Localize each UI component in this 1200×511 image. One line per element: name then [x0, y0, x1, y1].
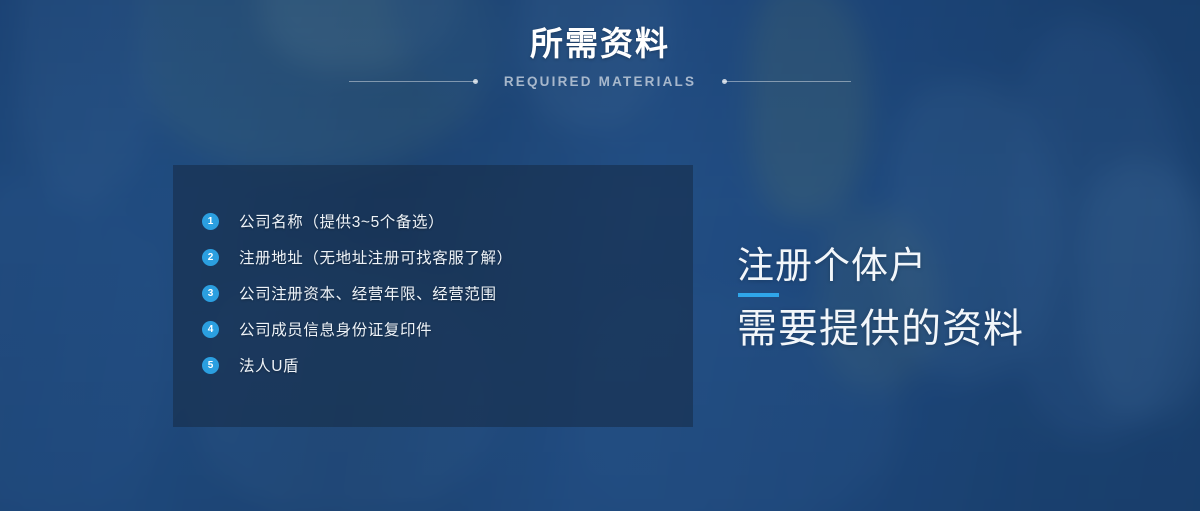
- list-item: 2 注册地址（无地址注册可找客服了解）: [202, 239, 513, 275]
- page-subtitle: REQUIRED MATERIALS: [504, 74, 696, 89]
- materials-panel: 1 公司名称（提供3~5个备选） 2 注册地址（无地址注册可找客服了解） 3 公…: [173, 165, 693, 427]
- list-item-label: 公司成员信息身份证复印件: [239, 318, 432, 340]
- banner-header: 所需资料 REQUIRED MATERIALS: [0, 22, 1200, 90]
- promo-banner: 所需资料 REQUIRED MATERIALS 1 公司名称（提供3~5个备选）…: [0, 0, 1200, 511]
- list-item: 1 公司名称（提供3~5个备选）: [202, 203, 513, 239]
- list-item: 5 法人U盾: [202, 347, 513, 383]
- list-item-label: 公司注册资本、经营年限、经营范围: [239, 282, 497, 304]
- list-item-number-badge: 3: [202, 285, 219, 302]
- materials-list: 1 公司名称（提供3~5个备选） 2 注册地址（无地址注册可找客服了解） 3 公…: [202, 203, 513, 383]
- divider-dot-right: [722, 79, 727, 84]
- divider-dot-left: [473, 79, 478, 84]
- divider-line-left: [349, 81, 477, 82]
- headline-line-2: 需要提供的资料: [737, 305, 1137, 353]
- list-item-label: 法人U盾: [239, 354, 299, 376]
- list-item-number-badge: 5: [202, 357, 219, 374]
- list-item-label: 注册地址（无地址注册可找客服了解）: [239, 246, 513, 268]
- list-item: 3 公司注册资本、经营年限、经营范围: [202, 275, 513, 311]
- headline-block: 注册个体户 需要提供的资料: [737, 244, 1137, 353]
- list-item-number-badge: 1: [202, 213, 219, 230]
- subtitle-row: REQUIRED MATERIALS: [0, 72, 1200, 90]
- page-title: 所需资料: [0, 22, 1200, 66]
- list-item-number-badge: 4: [202, 321, 219, 338]
- list-item-number-badge: 2: [202, 249, 219, 266]
- list-item-label: 公司名称（提供3~5个备选）: [239, 210, 444, 232]
- divider-line-right: [723, 81, 851, 82]
- list-item: 4 公司成员信息身份证复印件: [202, 311, 513, 347]
- headline-line-1: 注册个体户: [737, 244, 1137, 288]
- headline-accent-bar: [738, 293, 779, 297]
